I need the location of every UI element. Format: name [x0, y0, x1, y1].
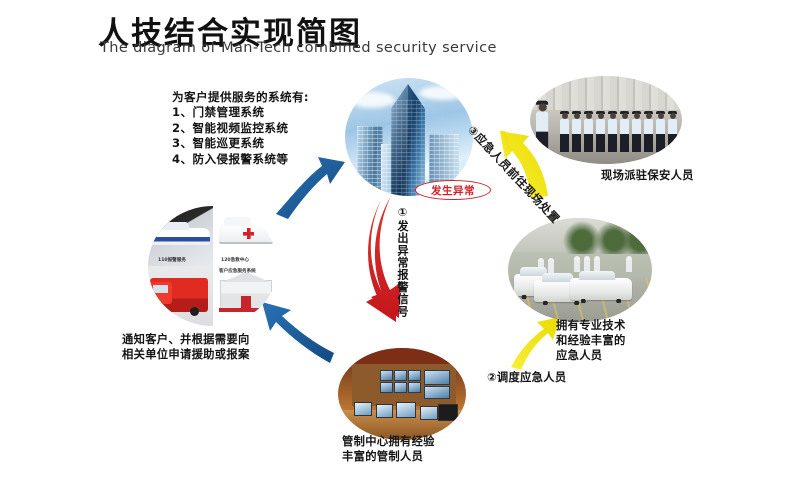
- collage-label-service: 客户应急服务系统: [219, 268, 256, 274]
- caption-guards: 现场派驻保安人员: [601, 167, 694, 183]
- collage-label-110: 110报警服务: [158, 257, 186, 263]
- caption-control-room: 管制中心拥有经验 丰富的管制人员: [342, 434, 435, 464]
- page-subtitle: The diagram of Man-Tech combined securit…: [100, 40, 497, 56]
- collage-label-120: 120急救中心: [221, 257, 249, 263]
- node-control-room-photo: [338, 348, 466, 440]
- node-patrol-cars-photo: [508, 218, 652, 322]
- caption-patrol-cars: 拥有专业技术 和经验丰富的 应急人员: [556, 318, 626, 363]
- systems-list-note: 为客户提供服务的系统有: 1、门禁管理系统 2、智能视频监控系统 3、智能巡更系…: [172, 90, 309, 167]
- step-1-label: ①发出异常报警信号: [396, 206, 409, 318]
- diagram-canvas: 人技结合实现简图 The diagram of Man-Tech combine…: [0, 0, 802, 477]
- node-emergency-services-photo: 110报警服务 120急救中心 客户应急服务系统: [148, 206, 278, 326]
- arrow-yellow-lower: [511, 317, 560, 370]
- node-buildings-photo: [345, 78, 473, 196]
- status-badge-abnormal: 发生异常: [415, 180, 491, 200]
- notify-customer-note: 通知客户、并根据需要向 相关单位申请援助或报案: [122, 332, 250, 362]
- node-guards-photo: [530, 76, 682, 164]
- step-2-label: ②调度应急人员: [487, 369, 566, 385]
- arrow-red-main: [366, 196, 400, 322]
